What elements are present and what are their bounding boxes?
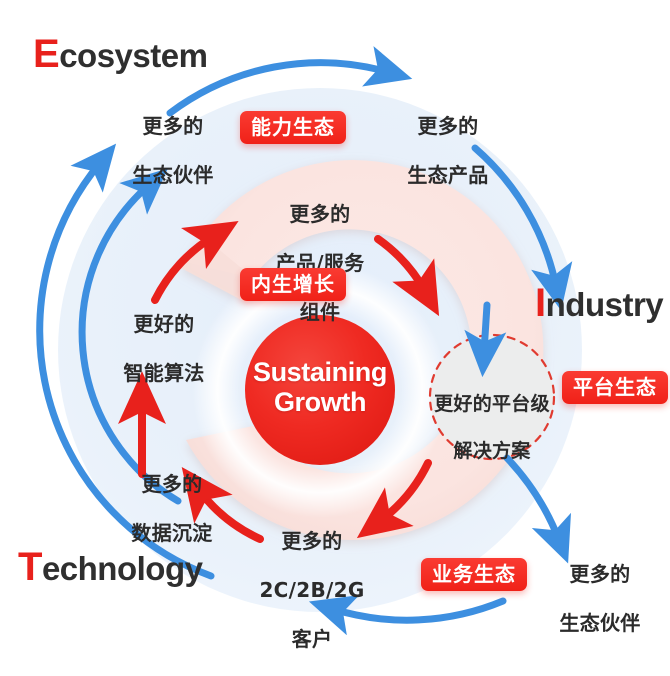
- badge-endogenous-growth[interactable]: 内生增长: [240, 268, 346, 301]
- node-line-3: 客户: [240, 627, 384, 651]
- node-line-1: 更好的: [108, 312, 220, 336]
- node-more-product-service-components: 更多的 产品/服务 组件: [238, 178, 402, 349]
- diagram-canvas: Ecosystem Industry Technology Sustaining…: [0, 0, 670, 663]
- node-line-2: 生态伙伴: [545, 611, 655, 635]
- node-line-2: 生态产品: [393, 163, 503, 187]
- node-line-1: 更多的: [240, 529, 384, 553]
- industry-cap: I: [535, 281, 546, 325]
- node-line-2: 数据沉淀: [116, 521, 228, 545]
- center-label: Sustaining Growth: [220, 357, 420, 417]
- ecosystem-rest: cosystem: [59, 37, 207, 74]
- section-title-ecosystem: Ecosystem: [33, 32, 207, 77]
- ecosystem-cap: E: [33, 32, 59, 76]
- section-title-industry: Industry: [535, 281, 663, 326]
- badge-business-ecosystem[interactable]: 业务生态: [421, 558, 527, 591]
- technology-cap: T: [18, 545, 42, 589]
- node-more-eco-partners-top: 更多的 生态伙伴: [118, 90, 228, 212]
- node-more-eco-partners-bottom: 更多的 生态伙伴: [545, 538, 655, 660]
- blue-arc-into-platform: [484, 305, 487, 352]
- node-line-1: 更多的: [393, 114, 503, 138]
- center-line-2: Growth: [220, 387, 420, 417]
- node-line-1: 更多的: [116, 472, 228, 496]
- node-line-1: 更多的: [238, 202, 402, 226]
- industry-rest: ndustry: [546, 286, 664, 323]
- center-line-1: Sustaining: [220, 357, 420, 387]
- node-more-eco-products: 更多的 生态产品: [393, 90, 503, 212]
- node-line-1: 更好的平台级: [414, 393, 570, 416]
- node-line-1: 更多的: [118, 114, 228, 138]
- node-line-3: 组件: [238, 300, 402, 324]
- node-line-2: 智能算法: [108, 361, 220, 385]
- badge-capability-ecosystem[interactable]: 能力生态: [240, 111, 346, 144]
- node-better-platform-solution: 更好的平台级 解决方案: [414, 370, 570, 486]
- node-better-intelligent-algorithms: 更好的 智能算法: [108, 288, 220, 410]
- node-line-1: 更多的: [545, 562, 655, 586]
- node-line-2: 解决方案: [414, 440, 570, 463]
- node-line-2: 2C/2B/2G: [240, 578, 384, 602]
- node-more-2c2b2g-customers: 更多的 2C/2B/2G 客户: [240, 505, 384, 676]
- node-line-2: 生态伙伴: [118, 163, 228, 187]
- node-more-data-precipitation: 更多的 数据沉淀: [116, 448, 228, 570]
- badge-platform-ecosystem[interactable]: 平台生态: [562, 371, 668, 404]
